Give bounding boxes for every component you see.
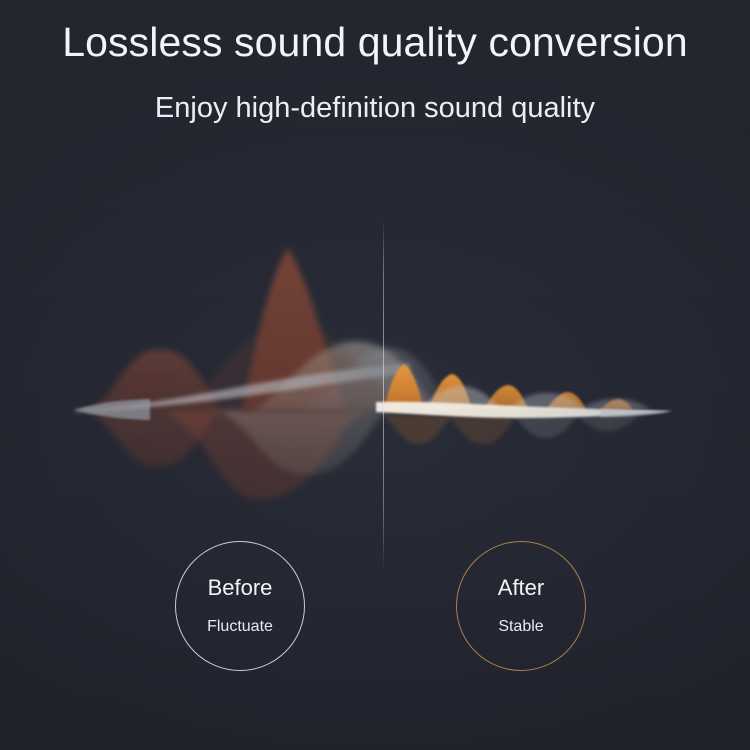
page-subtitle: Enjoy high-definition sound quality xyxy=(0,68,750,126)
badge-before-subtitle: Fluctuate xyxy=(207,619,273,635)
badge-after-subtitle: Stable xyxy=(498,619,543,635)
page-title: Lossless sound quality conversion xyxy=(0,0,750,68)
wave-ripple-lower-2 xyxy=(448,414,516,444)
badge-before-title: Before xyxy=(208,577,273,599)
wave-ripple-sheen-3 xyxy=(578,399,650,410)
badge-after[interactable]: After Stable xyxy=(456,541,586,671)
header-block: Lossless sound quality conversion Enjoy … xyxy=(0,0,750,127)
badge-before[interactable]: Before Fluctuate xyxy=(175,541,305,671)
waveform-graphic xyxy=(0,170,750,570)
poster-canvas: Lossless sound quality conversion Enjoy … xyxy=(0,0,750,750)
wave-ripple-lower-1 xyxy=(383,414,452,444)
waveform-stage xyxy=(0,170,750,570)
wave-start-point xyxy=(75,399,150,420)
badge-after-title: After xyxy=(498,577,544,599)
